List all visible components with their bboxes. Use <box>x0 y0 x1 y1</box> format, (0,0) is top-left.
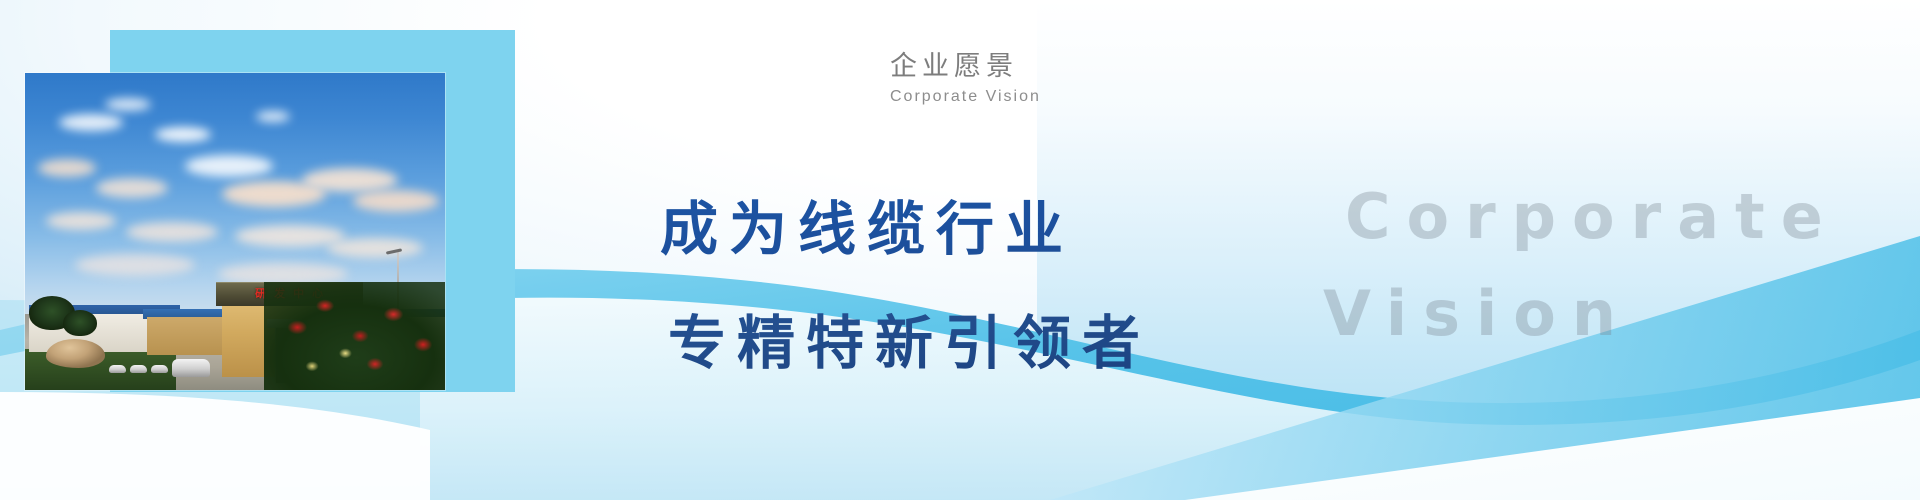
cloud <box>96 178 168 198</box>
cloud <box>155 127 211 142</box>
cloud <box>59 114 123 131</box>
section-title-cn: 企业愿景 <box>890 50 1041 84</box>
parked-car <box>130 365 147 373</box>
cloud <box>38 159 96 177</box>
company-photo: 研 发 中 心 <box>25 73 445 390</box>
tree <box>63 310 97 336</box>
flower-bed <box>264 282 445 390</box>
watermark-text: Corporate Vision <box>1345 168 1839 362</box>
cloud <box>126 222 218 242</box>
section-heading: 企业愿景 Corporate Vision <box>890 50 1041 106</box>
watermark-line-vision: Vision <box>1323 265 1839 362</box>
parked-car <box>109 365 126 373</box>
landscape-rock <box>46 339 105 368</box>
cloud <box>302 168 398 192</box>
slogan-line-1: 成为线缆行业 <box>660 172 1151 286</box>
section-title-en: Corporate Vision <box>890 88 1041 106</box>
slogan-line-2: 专精特新引领者 <box>668 286 1151 400</box>
parked-car <box>151 365 168 373</box>
watermark-line-corporate: Corporate <box>1345 168 1839 265</box>
cloud <box>75 254 195 276</box>
corporate-vision-banner: 研 发 中 心 Corporate Vision 企业愿景 Corporat <box>0 0 1920 500</box>
parked-car-foreground <box>172 359 210 377</box>
vision-slogan: 成为线缆行业 专精特新引领者 <box>660 172 1151 400</box>
cloud <box>327 238 423 258</box>
cloud <box>256 111 290 122</box>
